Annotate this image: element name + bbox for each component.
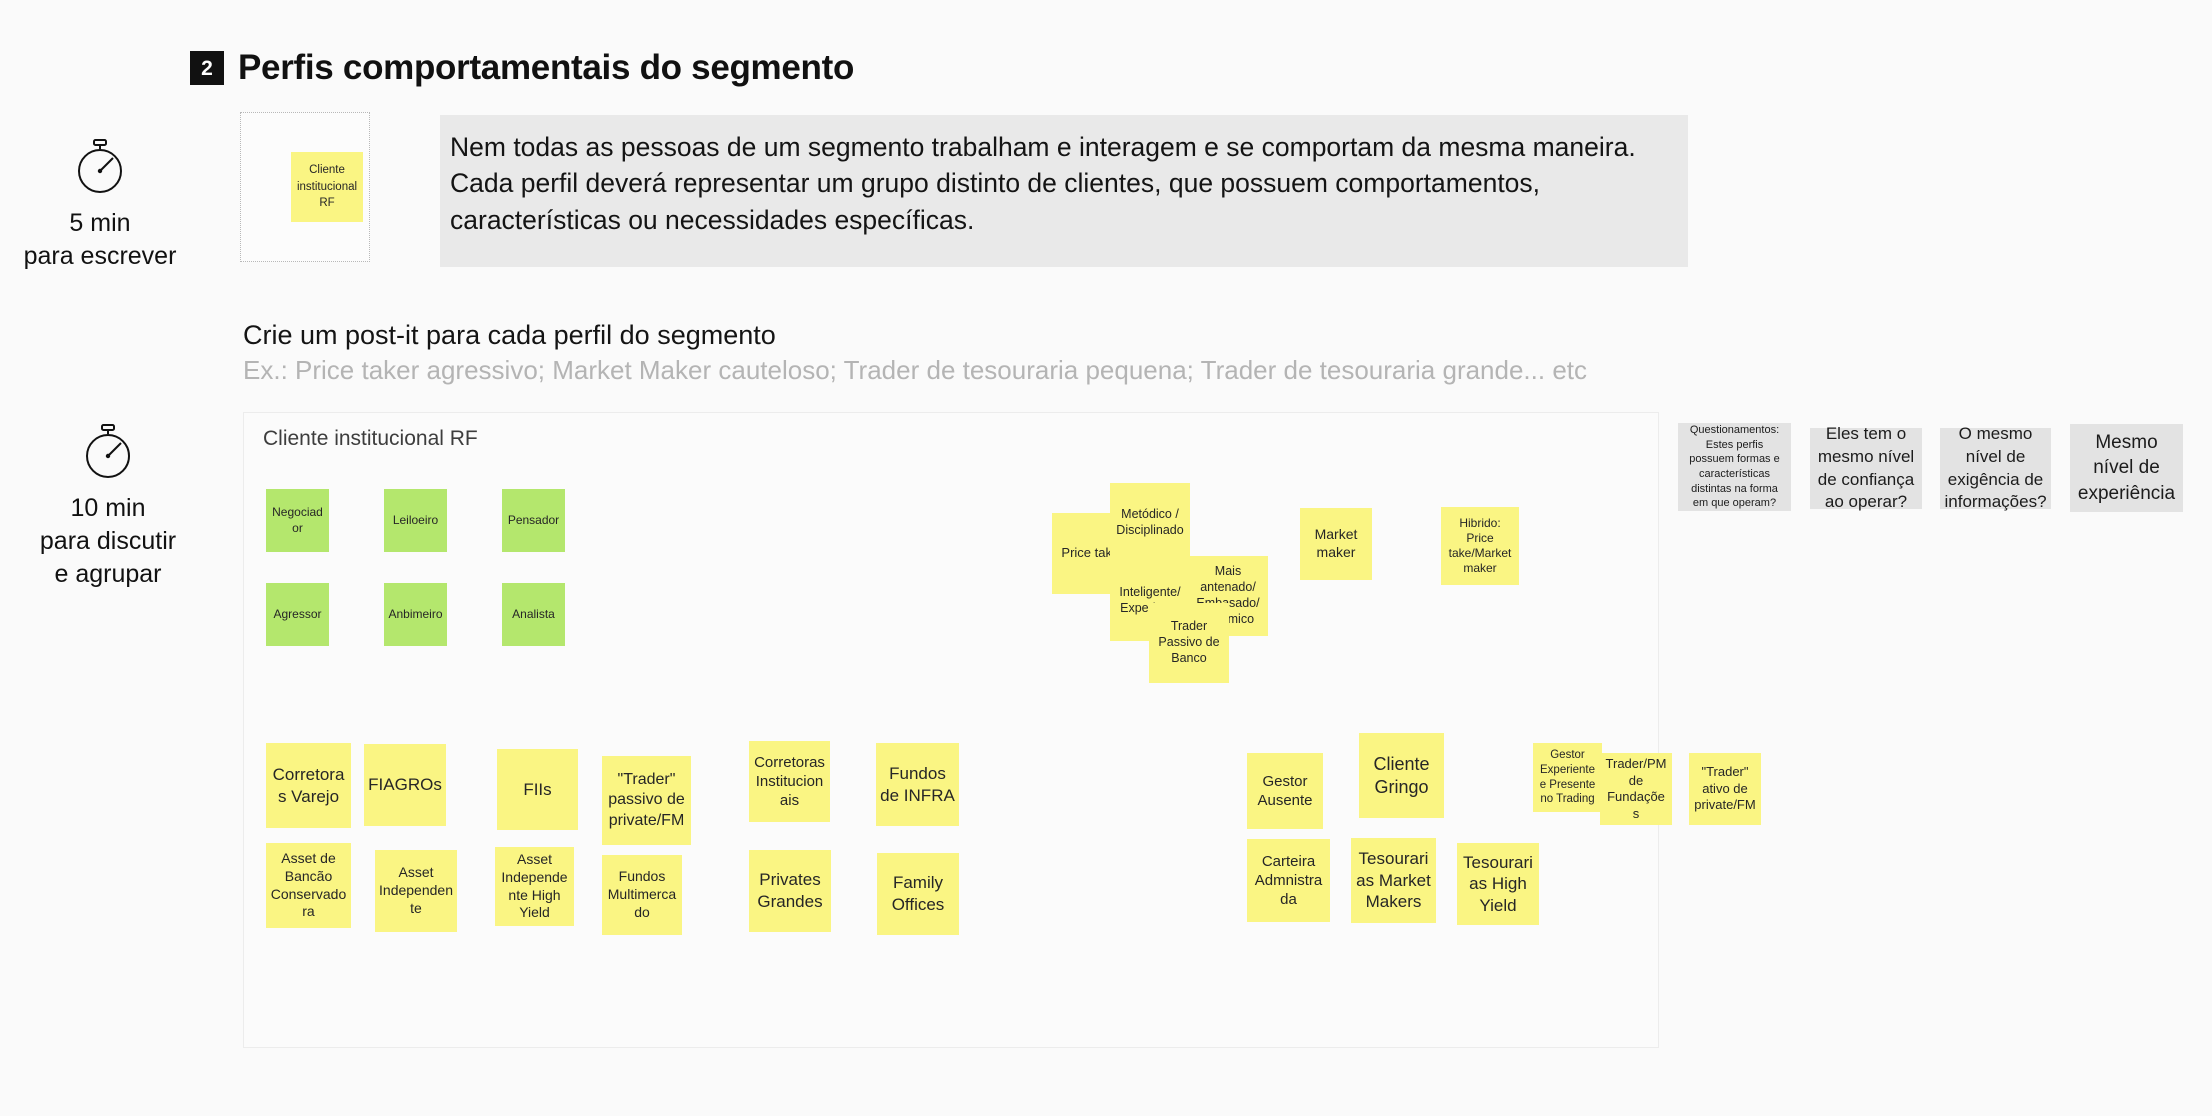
stopwatch-icon	[0, 135, 200, 197]
stopwatch-icon	[8, 420, 208, 482]
example-note[interactable]: Cliente institucional RF	[291, 152, 363, 222]
sticky-note[interactable]: Asset de Bancão Conservadora	[266, 843, 351, 928]
question-card[interactable]: O mesmo nível de exigência de informaçõe…	[1940, 428, 2051, 509]
sticky-note[interactable]: Tesourarias High Yield	[1457, 843, 1539, 925]
sticky-note[interactable]: Corretoras Varejo	[266, 743, 351, 828]
sticky-note[interactable]: Asset Independente	[375, 850, 457, 932]
write-timer: 5 min para escrever	[0, 135, 200, 273]
sticky-note[interactable]: Trader Passivo de Banco	[1149, 603, 1229, 683]
description-banner: Nem todas as pessoas de um segmento trab…	[440, 115, 1688, 267]
sticky-note[interactable]: "Trader" passivo de private/FM	[602, 756, 691, 845]
sticky-note[interactable]: Cliente Gringo	[1359, 733, 1444, 818]
sticky-note[interactable]: Trader/PM de Fundações	[1600, 753, 1672, 825]
question-card[interactable]: Mesmo nível de experiência	[2070, 424, 2183, 512]
discuss-timer: 10 min para discutir e agrupar	[8, 420, 208, 591]
question-card[interactable]: Questionamentos: Estes perfis possuem fo…	[1678, 423, 1791, 511]
sticky-note[interactable]: Privates Grandes	[749, 850, 831, 932]
sticky-note[interactable]: Anbimeiro	[384, 583, 447, 646]
discuss-timer-label: 10 min para discutir e agrupar	[8, 492, 208, 591]
sticky-note[interactable]: Hibrido: Price take/Market maker	[1441, 507, 1519, 585]
page-title: Perfis comportamentais do segmento	[238, 48, 854, 88]
sticky-note[interactable]: Tesourarias Market Makers	[1351, 838, 1436, 923]
sticky-note[interactable]: Fundos Multimercado	[602, 855, 682, 935]
sticky-note[interactable]: Carteira Admnistrada	[1247, 839, 1330, 922]
profiles-board: Cliente institucional RF NegociadorLeilo…	[243, 412, 1659, 1048]
step-number-badge: 2	[190, 51, 224, 85]
description-text: Nem todas as pessoas de um segmento trab…	[450, 129, 1678, 238]
instruction-example-text: Ex.: Price taker agressivo; Market Maker…	[243, 355, 1587, 386]
sticky-note[interactable]: Pensador	[502, 489, 565, 552]
sticky-note[interactable]: Gestor Ausente	[1247, 753, 1323, 829]
sticky-note[interactable]: Asset Independente High Yield	[495, 847, 574, 926]
sticky-note[interactable]: Analista	[502, 583, 565, 646]
board-title: Cliente institucional RF	[263, 427, 478, 451]
sticky-note[interactable]: Gestor Experiente e Presente no Trading	[1533, 743, 1602, 812]
sticky-note[interactable]: Corretoras Institucionais	[749, 741, 830, 822]
question-card[interactable]: Eles tem o mesmo nível de confiança ao o…	[1810, 428, 1922, 509]
sticky-note[interactable]: "Trader" ativo de private/FM	[1689, 753, 1761, 825]
sticky-note[interactable]: Family Offices	[877, 853, 959, 935]
sticky-note[interactable]: Agressor	[266, 583, 329, 646]
sticky-note[interactable]: Negociador	[266, 489, 329, 552]
instruction-heading: Crie um post-it para cada perfil do segm…	[243, 320, 776, 351]
sticky-note[interactable]: Fundos de INFRA	[876, 743, 959, 826]
sticky-note[interactable]: Leiloeiro	[384, 489, 447, 552]
sticky-note[interactable]: FIAGROs	[364, 744, 446, 826]
sticky-note[interactable]: FIIs	[497, 749, 578, 830]
page-header: 2 Perfis comportamentais do segmento	[190, 48, 854, 88]
sticky-note[interactable]: Metódico / Disciplinado	[1110, 483, 1190, 563]
sticky-note[interactable]: Market maker	[1300, 508, 1372, 580]
write-timer-label: 5 min para escrever	[0, 207, 200, 273]
